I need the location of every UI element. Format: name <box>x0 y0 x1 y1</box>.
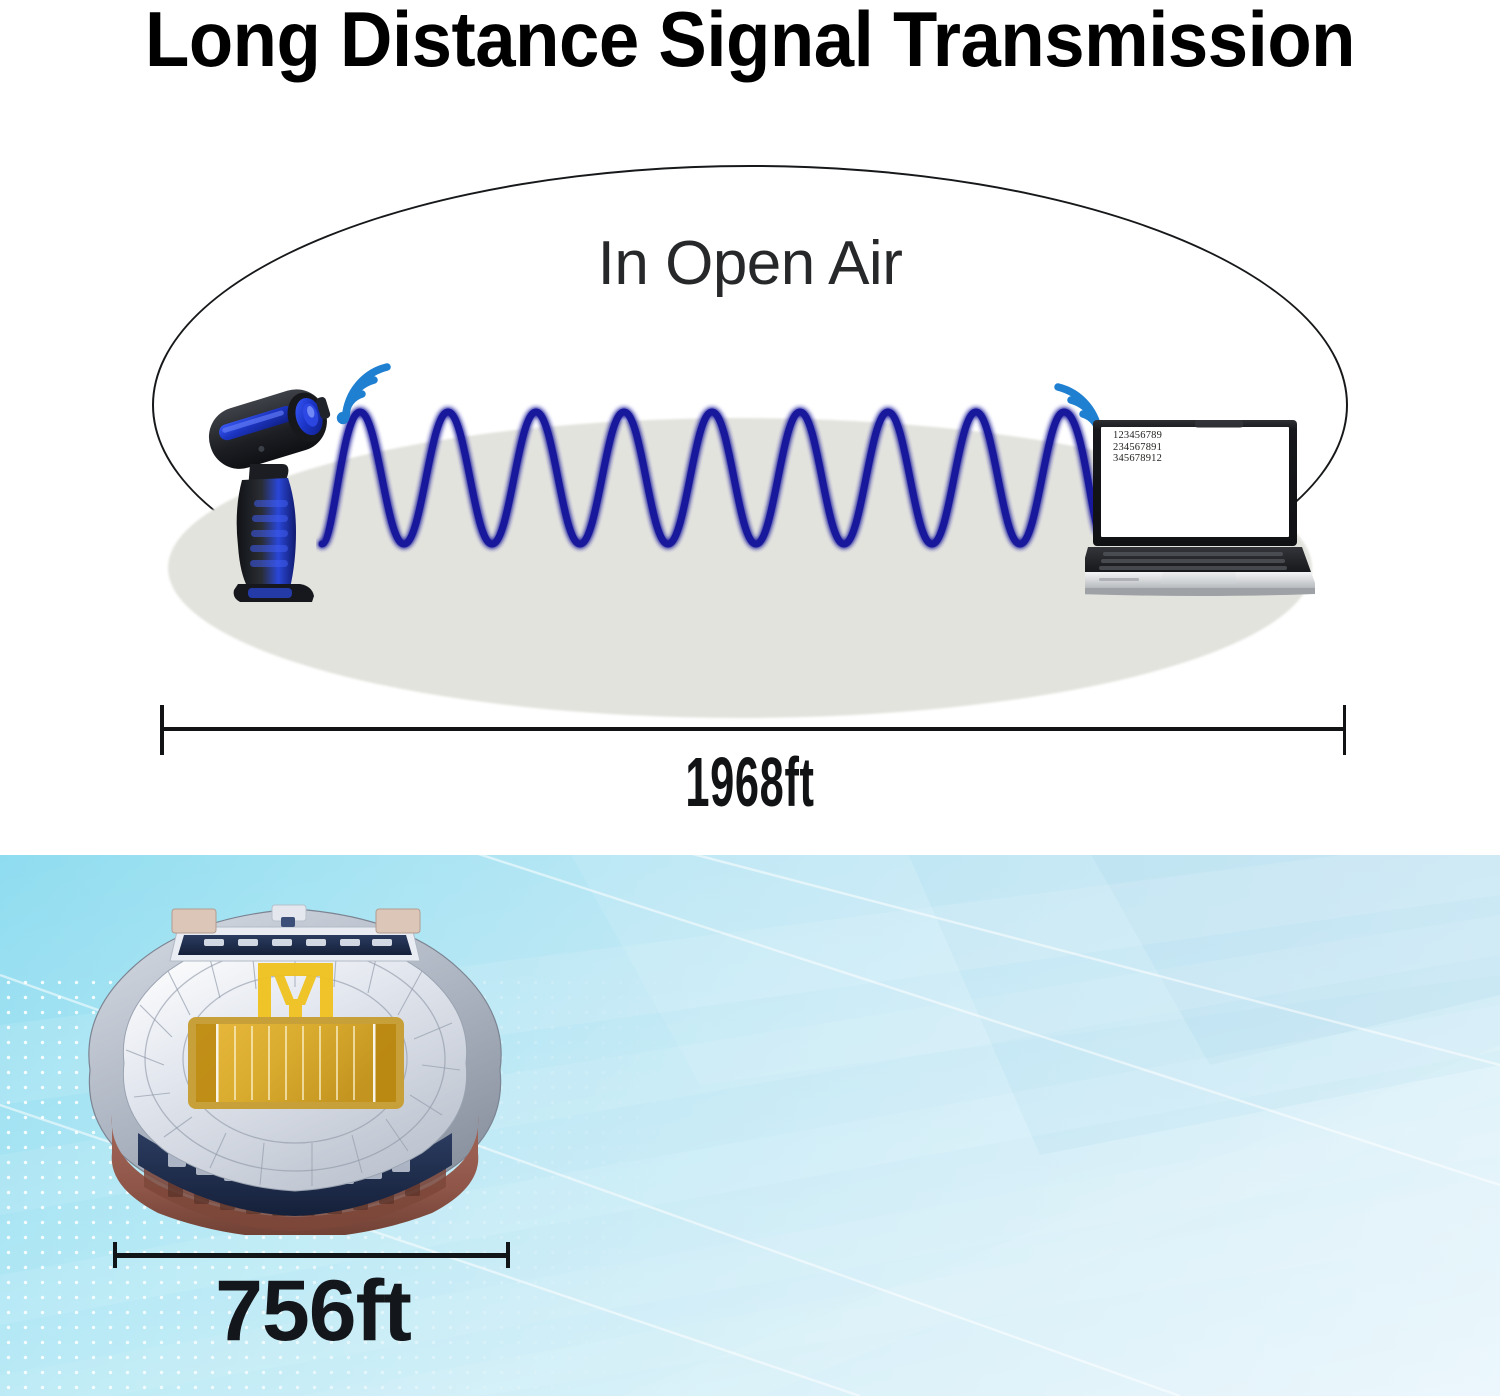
laptop-screen-readout: 123456789 234567891 345678912 <box>1113 430 1162 465</box>
page-title: Long Distance Signal Transmission <box>53 0 1448 82</box>
open-air-panel: Long Distance Signal Transmission In Ope… <box>0 0 1500 855</box>
open-air-distance-label: 1968ft <box>285 742 1215 822</box>
dimension-bar <box>160 727 1346 731</box>
signal-wave <box>316 398 1106 558</box>
wifi-signal-icon <box>330 362 402 430</box>
readout-line: 123456789 <box>1113 430 1162 442</box>
dimension-bar <box>113 1253 510 1258</box>
dimension-end-cap-right <box>1343 705 1347 755</box>
football-stadium-icon <box>60 865 530 1235</box>
stadium-distance-label: 756ft <box>113 1262 513 1361</box>
readout-line: 234567891 <box>1113 442 1162 454</box>
readout-line: 345678912 <box>1113 453 1162 465</box>
open-air-label: In Open Air <box>0 228 1500 299</box>
